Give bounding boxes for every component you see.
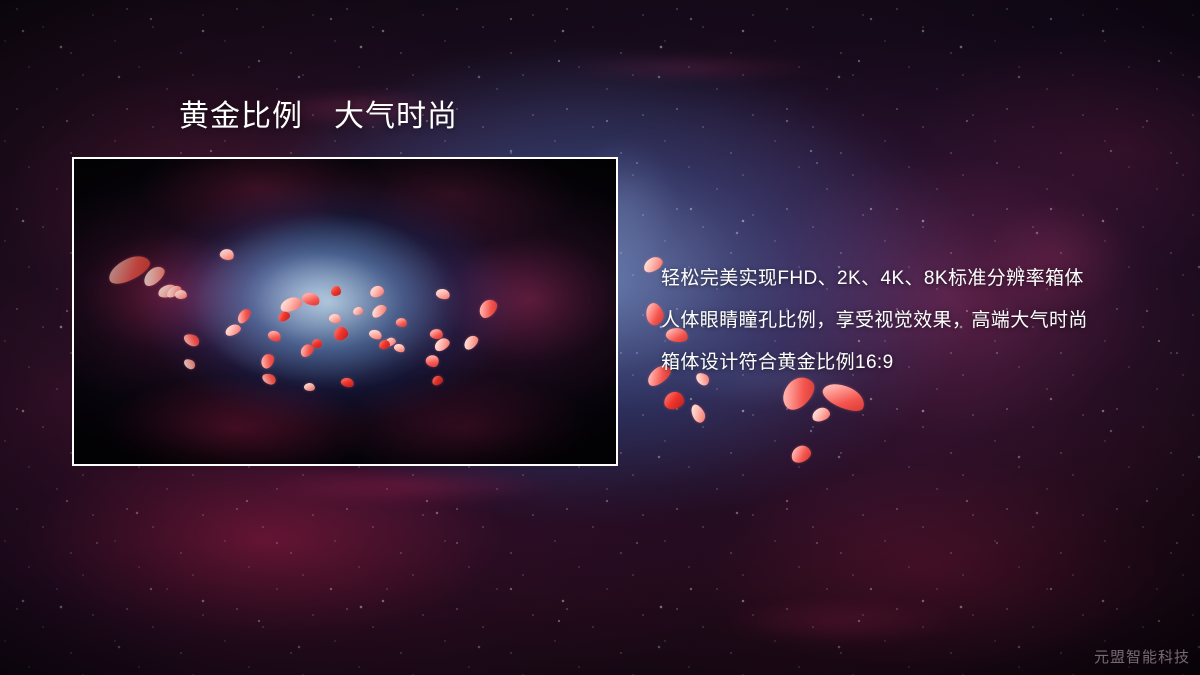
preview-image-frame [72, 157, 618, 466]
preview-image [74, 159, 616, 464]
preview-vignette [74, 159, 616, 464]
copy-line-1: 轻松完美实现FHD、2K、4K、8K标准分辨率箱体 [661, 258, 1161, 300]
page-title: 黄金比例 大气时尚 [179, 100, 458, 135]
slide-canvas: 黄金比例 大气时尚 [0, 0, 1200, 675]
copy-line-2: 人体眼睛瞳孔比例，享受视觉效果，高端大气时尚 [661, 300, 1161, 342]
watermark: 元盟智能科技 [1094, 646, 1190, 667]
body-copy: 轻松完美实现FHD、2K、4K、8K标准分辨率箱体 人体眼睛瞳孔比例，享受视觉效… [661, 258, 1161, 384]
copy-line-3: 箱体设计符合黄金比例16:9 [661, 342, 1161, 384]
